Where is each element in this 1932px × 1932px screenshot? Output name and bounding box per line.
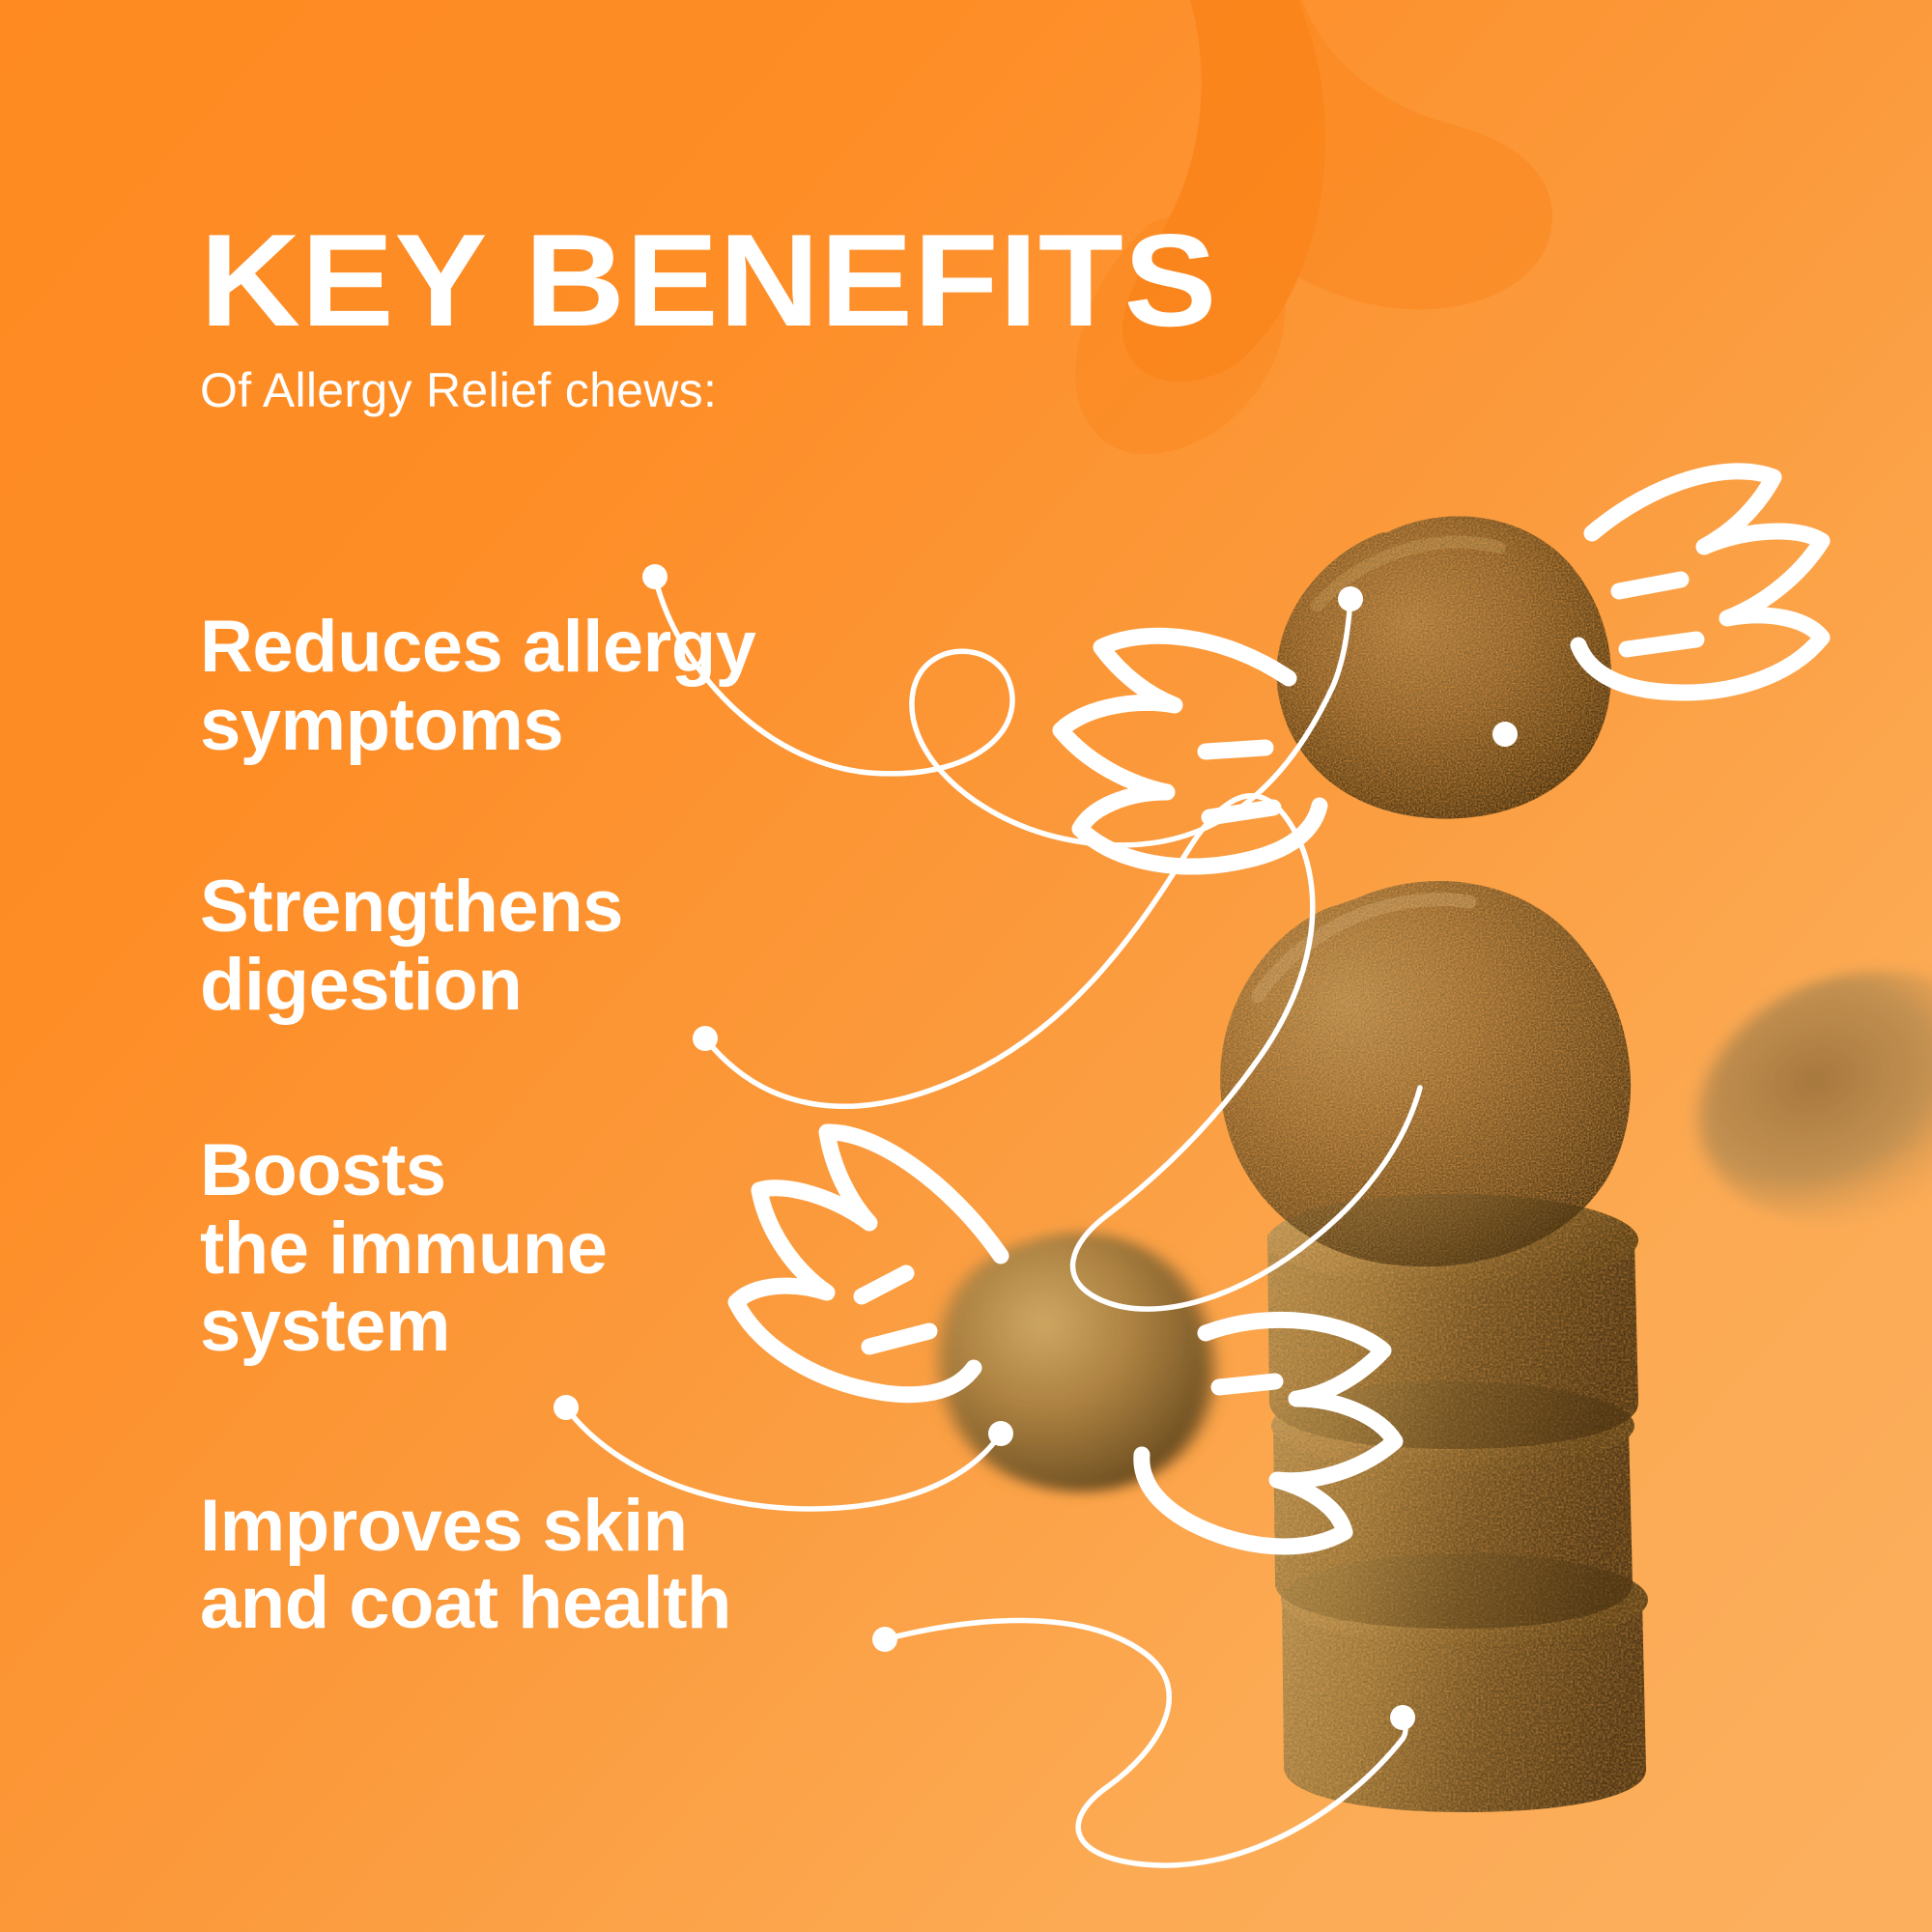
- connector-dot-chew-bottom: [1390, 1705, 1415, 1730]
- chew-second: [1192, 854, 1657, 1297]
- wing-top-left-icon: [1061, 636, 1320, 867]
- connector-skin: [885, 1620, 1406, 1865]
- benefits-list: Reduces allergy symptoms Strengthens dig…: [200, 609, 1050, 1643]
- chew-top: [1262, 501, 1626, 837]
- page-subtitle: Of Allergy Relief chews:: [200, 364, 1649, 417]
- chew-bokeh: [1663, 928, 1932, 1264]
- chew-bottom: [1281, 1553, 1648, 1812]
- wing-mid-right-icon: [1142, 1320, 1395, 1547]
- connector-dot-chew-top-b: [1492, 722, 1518, 747]
- headline-block: KEY BENEFITS Of Allergy Relief chews:: [200, 220, 1649, 417]
- benefit-item-reduces-allergy-symptoms: Reduces allergy symptoms: [200, 609, 1050, 764]
- chew-third: [1267, 1194, 1638, 1449]
- benefit-item-strengthens-digestion: Strengthens digestion: [200, 868, 1050, 1024]
- benefit-item-boosts-immune-system: Boosts the immune system: [200, 1132, 1050, 1366]
- benefit-item-improves-skin-and-coat: Improves skin and coat health: [200, 1488, 1050, 1643]
- page-title: KEY BENEFITS: [200, 220, 1736, 341]
- key-benefits-graphic: KEY BENEFITS Of Allergy Relief chews: Re…: [0, 0, 1932, 1932]
- connector-dot-symptoms: [642, 564, 668, 589]
- wing-top-right-icon: [1578, 471, 1822, 693]
- chew-fourth: [1271, 1381, 1634, 1629]
- connector-dot-chew-top-a: [1338, 586, 1363, 611]
